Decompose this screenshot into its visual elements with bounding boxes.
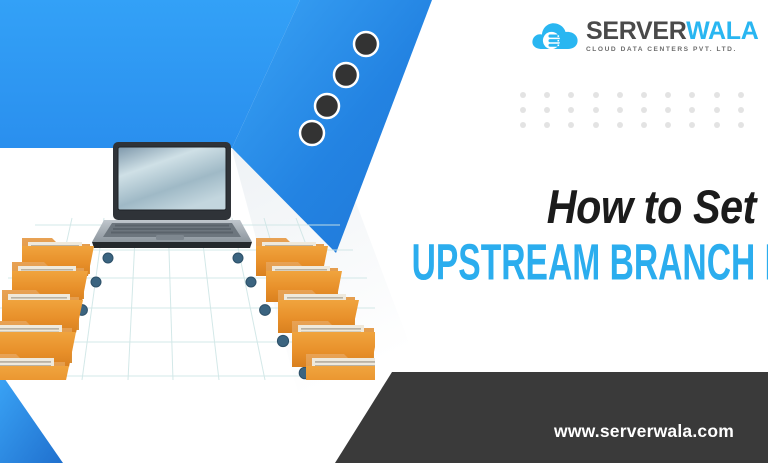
grid-dot (665, 107, 671, 113)
grid-dot (641, 92, 647, 98)
logo-word-primary: SERVER (586, 17, 686, 45)
grid-dot (689, 107, 695, 113)
folders-left (0, 238, 94, 380)
grid-dot (738, 122, 744, 128)
node (260, 305, 271, 316)
grid-dot (568, 92, 574, 98)
grid-dot (689, 92, 695, 98)
headline-block: How to Set UPSTREAM BRANCH IN GIT (336, 183, 756, 283)
grid-dot (568, 107, 574, 113)
grid-dot (520, 92, 526, 98)
grid-dot (544, 92, 550, 98)
grid-dot (617, 107, 623, 113)
grid-dot (568, 122, 574, 128)
diagonal-dot (354, 32, 378, 56)
laptop (92, 142, 252, 248)
footer-website-url[interactable]: www.serverwala.com (554, 421, 734, 442)
grid-dot (665, 92, 671, 98)
node (91, 277, 101, 287)
footer-band (335, 372, 768, 463)
diagonal-dots (300, 32, 378, 145)
laptop-folder-network-illustration (0, 130, 375, 380)
grid-dot (544, 107, 550, 113)
banner-canvas: SERVERWALA CLOUD DATA CENTERS PVT. LTD. … (0, 0, 768, 463)
headline-line-1: How to Set (386, 183, 756, 230)
grid-dot (714, 122, 720, 128)
grid-dot (617, 92, 623, 98)
logo-word: SERVERWALA (586, 19, 759, 44)
grid-dot (544, 122, 550, 128)
top-blue-band (0, 0, 300, 148)
grid-dot (714, 92, 720, 98)
logo-tagline: CLOUD DATA CENTERS PVT. LTD. (586, 47, 759, 54)
grid-dot (738, 92, 744, 98)
node (103, 253, 113, 263)
corner-triangle (0, 372, 63, 463)
grid-dot (593, 122, 599, 128)
grid-dot (520, 107, 526, 113)
grid-dot (641, 122, 647, 128)
diagonal-dot (334, 63, 358, 87)
logo-word-secondary: WALA (686, 17, 758, 45)
headline-line-2: UPSTREAM BRANCH IN GIT (412, 237, 756, 288)
grid-dot (738, 107, 744, 113)
grid-dot (593, 92, 599, 98)
decorative-dot-grid (520, 92, 762, 137)
node (246, 277, 256, 287)
grid-dot (617, 122, 623, 128)
cloud-server-icon (530, 15, 580, 55)
node (233, 253, 243, 263)
grid-dot (520, 122, 526, 128)
node (277, 335, 288, 346)
grid-dot (689, 122, 695, 128)
grid-dot (714, 107, 720, 113)
diagonal-dot (315, 94, 339, 118)
serverwala-logo[interactable]: SERVERWALA CLOUD DATA CENTERS PVT. LTD. (530, 12, 758, 58)
grid-dot (665, 122, 671, 128)
logo-wordmark: SERVERWALA CLOUD DATA CENTERS PVT. LTD. (586, 17, 759, 54)
grid-dot (593, 107, 599, 113)
grid-dot (641, 107, 647, 113)
